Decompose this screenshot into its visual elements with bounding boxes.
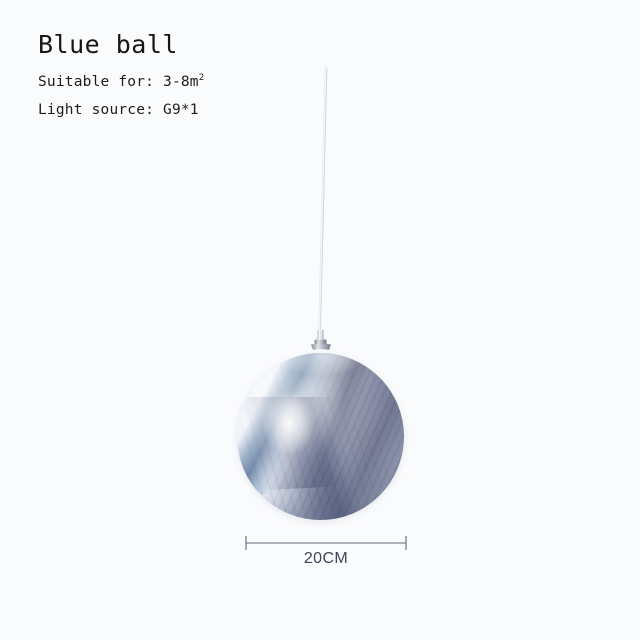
- chrome-ceiling-cap: [307, 330, 335, 352]
- product-title: Blue ball: [38, 30, 178, 59]
- spec-suitable-for-text: Suitable for: 3-8m2: [38, 74, 204, 90]
- product-image-canvas: Blue ball Suitable for: 3-8m2 Light sour…: [0, 0, 640, 640]
- spec-suitable-for: Suitable for: 3-8m2: [38, 74, 204, 90]
- dimension-label: 20CM: [243, 550, 409, 568]
- globe-top-glow: [237, 353, 404, 520]
- spec-light-source: Light source: G9*1: [38, 102, 199, 118]
- spec-light-source-text: Light source: G9*1: [38, 102, 199, 118]
- spec-area-superscript: 2: [199, 73, 205, 83]
- marble-glass-globe-shade: [237, 353, 404, 520]
